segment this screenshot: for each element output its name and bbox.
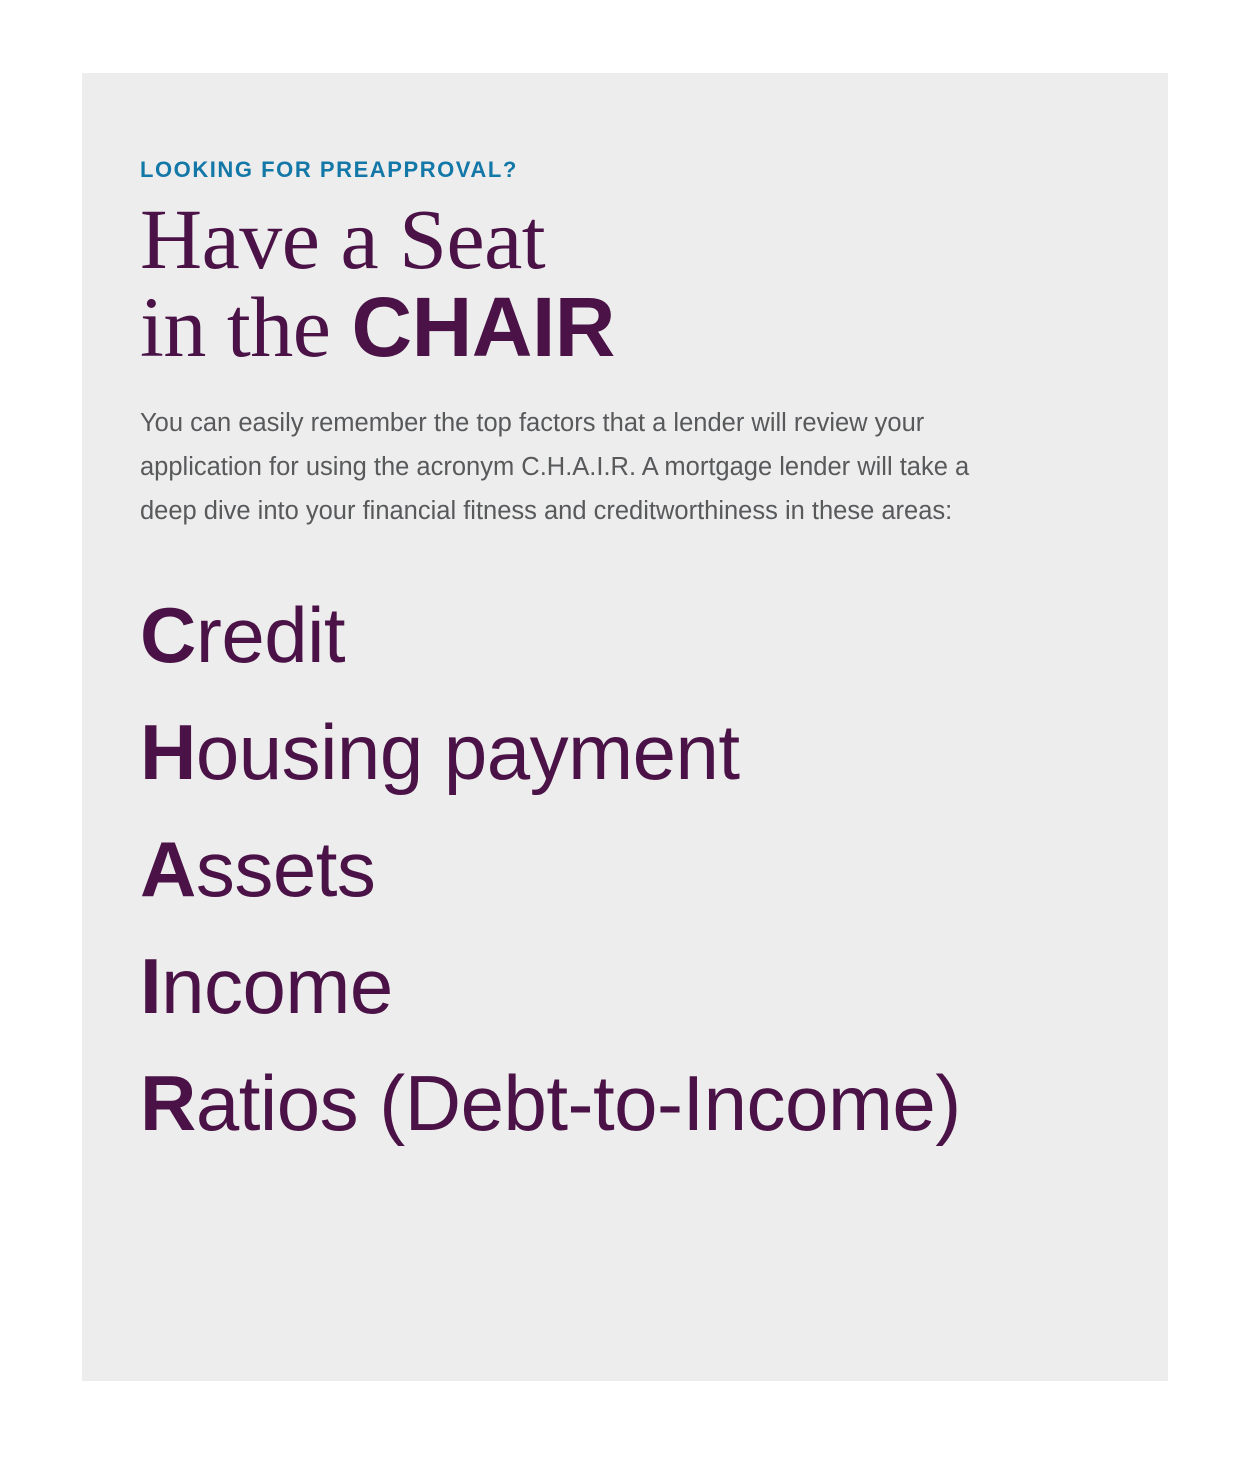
acronym-rest-h: ousing payment [196,708,740,796]
eyebrow-label: LOOKING FOR PREAPPROVAL? [140,158,1105,182]
acronym-rest-i: ncome [161,942,393,1030]
page-root: LOOKING FOR PREAPPROVAL? Have a Seat in … [0,0,1250,1458]
acronym-initial-r: R [140,1059,196,1147]
headline-text-secondary: in the [140,279,351,375]
content-container: LOOKING FOR PREAPPROVAL? Have a Seat in … [140,158,1105,1142]
body-paragraph: You can easily remember the top factors … [140,402,1090,534]
page-title: Have a Seat in the CHAIR [140,196,1105,370]
headline-line-2: in the CHAIR [140,284,1105,370]
headline-line-1: Have a Seat [140,196,1105,282]
headline-text-emphasis: CHAIR [351,280,615,374]
list-item: Credit [140,596,1105,674]
list-item: Housing payment [140,713,1105,791]
body-line-3: deep dive into your financial fitness an… [140,490,1090,534]
acronym-rest-c: redit [196,591,345,679]
list-item: Assets [140,830,1105,908]
acronym-initial-i: I [140,942,161,1030]
acronym-rest-a: ssets [196,825,376,913]
acronym-list: Credit Housing payment Assets Income Rat… [140,596,1105,1142]
list-item: Income [140,947,1105,1025]
acronym-initial-a: A [140,825,196,913]
acronym-rest-r: atios (Debt-to-Income) [196,1059,961,1147]
body-line-1: You can easily remember the top factors … [140,402,1090,446]
acronym-initial-h: H [140,708,196,796]
content-panel: LOOKING FOR PREAPPROVAL? Have a Seat in … [82,73,1168,1381]
list-item: Ratios (Debt-to-Income) [140,1064,1105,1142]
body-line-2: application for using the acronym C.H.A.… [140,446,1090,490]
headline-text-primary: Have a Seat [140,191,545,287]
acronym-initial-c: C [140,591,196,679]
